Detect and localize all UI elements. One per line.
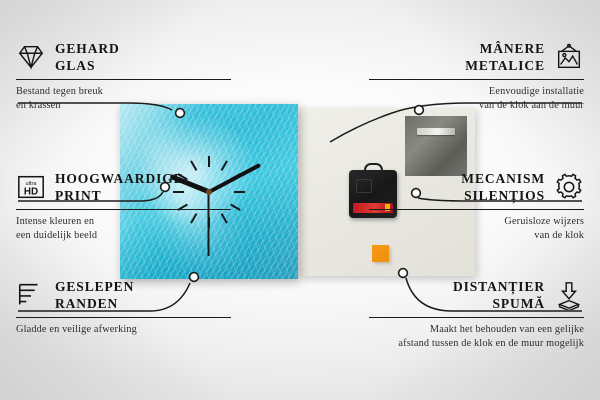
feature-title: MECANISMSILENȚIOS <box>461 170 545 205</box>
orange-foam-spacer <box>372 245 389 262</box>
feature-title: MÂNEREMETALICE <box>465 40 545 75</box>
picture-frame-hanging-icon <box>554 42 584 72</box>
feature-title: HOOGWAARDIGEPRINT <box>55 170 184 205</box>
gear-icon <box>554 172 584 202</box>
diagonal-lines-icon <box>16 280 46 310</box>
diamond-icon <box>16 42 46 72</box>
feature-rule <box>369 79 584 80</box>
feature-manere-metalice: MÂNEREMETALICE Eenvoudige installatievan… <box>369 40 584 113</box>
feature-header: GEHARDGLAS <box>16 40 231 75</box>
feature-rule <box>16 317 231 318</box>
ultra-hd-icon: ultra HD <box>16 172 46 202</box>
feature-header: DISTANȚIERSPUMĂ <box>369 278 584 313</box>
feature-subtitle: Eenvoudige installatievan de klok aan de… <box>369 85 584 113</box>
feature-header: MECANISMSILENȚIOS <box>369 170 584 205</box>
feature-title: DISTANȚIERSPUMĂ <box>453 278 545 313</box>
feature-subtitle: Bestand tegen breuken krassen <box>16 85 231 113</box>
feature-header: GESLEPENRANDEN <box>16 278 231 313</box>
feature-hoogwaardige-print: ultra HD HOOGWAARDIGEPRINT Intense kleur… <box>16 170 231 243</box>
feature-header: MÂNEREMETALICE <box>369 40 584 75</box>
feature-rule <box>369 317 584 318</box>
feature-rule <box>369 209 584 210</box>
feature-header: ultra HD HOOGWAARDIGEPRINT <box>16 170 231 205</box>
feature-subtitle: Geruisloze wijzersvan de klok <box>369 215 584 243</box>
hanger-slot <box>417 128 455 135</box>
feature-gehard-glas: GEHARDGLAS Bestand tegen breuken krassen <box>16 40 231 113</box>
arrow-down-layer-icon <box>554 280 584 310</box>
feature-title: GESLEPENRANDEN <box>55 278 134 313</box>
feature-rule <box>16 79 231 80</box>
svg-text:HD: HD <box>24 187 38 198</box>
feature-subtitle: Maakt het behouden van een gelijkeafstan… <box>369 323 584 351</box>
feature-geslepen-randen: GESLEPENRANDEN Gladde en veilige afwerki… <box>16 278 231 337</box>
feature-title: GEHARDGLAS <box>55 40 120 75</box>
feature-rule <box>16 209 231 210</box>
feature-distantier-spuma: DISTANȚIERSPUMĂ Maakt het behouden van e… <box>369 278 584 351</box>
feature-subtitle: Gladde en veilige afwerking <box>16 323 231 337</box>
feature-mecanism-silentios: MECANISMSILENȚIOS Geruisloze wijzersvan … <box>369 170 584 243</box>
metal-hanger-plate <box>405 116 467 176</box>
feature-subtitle: Intense kleuren eneen duidelijk beeld <box>16 215 231 243</box>
